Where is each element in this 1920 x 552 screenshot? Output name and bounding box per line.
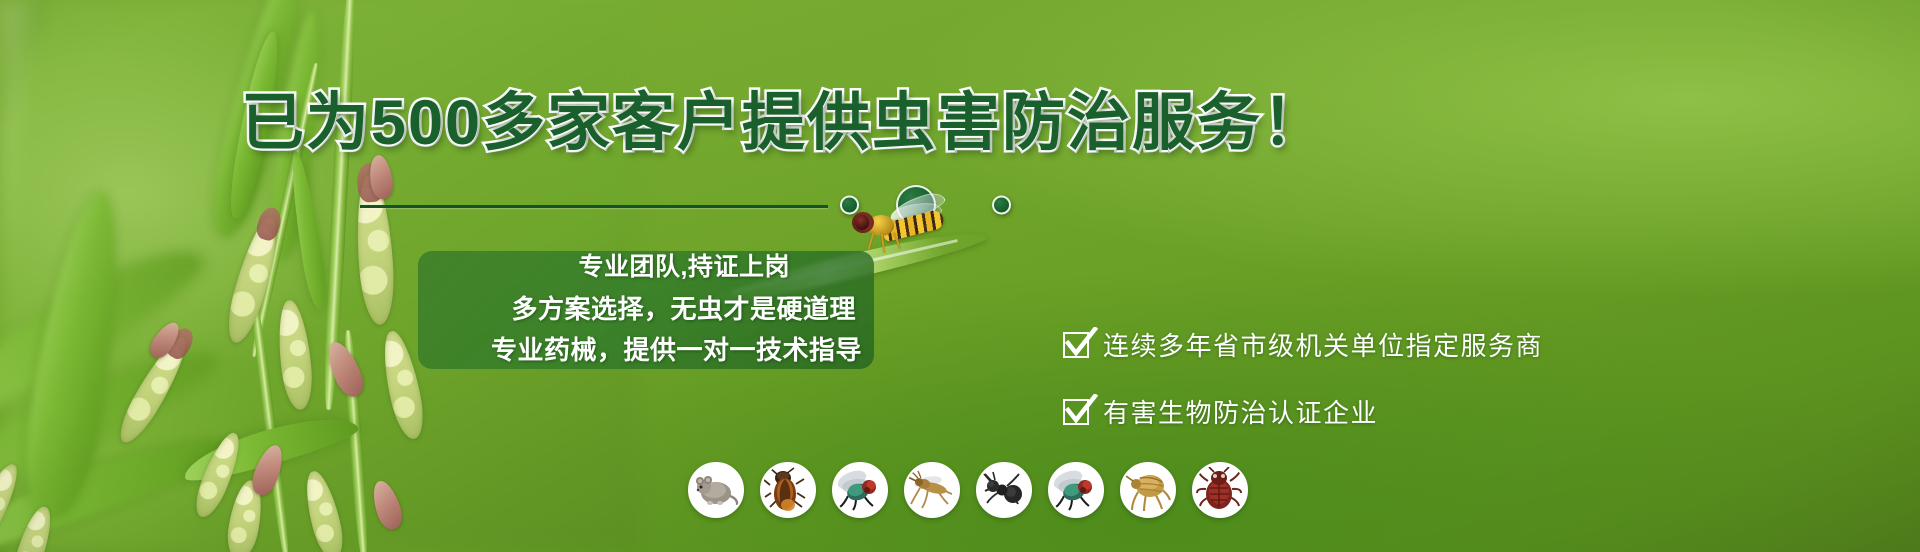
bedbug-icon[interactable]: 臭虫: [1192, 462, 1248, 518]
fly-eye: [855, 215, 869, 230]
fly-leg-front: [868, 232, 875, 250]
cockroach-icon[interactable]: 蟑螂: [760, 462, 816, 518]
credential-row: 连续多年省市级机关单位指定服务商: [1063, 326, 1543, 363]
fly-icon[interactable]: 蝇: [832, 462, 888, 518]
dot-small-right: [992, 196, 1011, 215]
slogan-list: 专业团队,持证上岗 多方案选择，无虫才是硬道理 专业药械，提供一对一技术指导: [418, 251, 874, 369]
blowfly-icon[interactable]: 绿头蝇: [1048, 462, 1104, 518]
page-title-text: 已为500多家客户提供虫害防治服务！: [241, 88, 1327, 158]
slogan-panel: 专业团队,持证上岗 多方案选择，无虫才是硬道理 专业药械，提供一对一技术指导: [418, 251, 874, 369]
slogan-line-1: 专业团队,持证上岗: [579, 255, 864, 280]
slogan-line-2: 多方案选择，无虫才是硬道理: [511, 296, 864, 322]
credential-row: 有害生物防治认证企业: [1063, 393, 1543, 430]
divider-line: [360, 205, 828, 208]
slogan-line-3: 专业药械，提供一对一技术指导: [491, 337, 864, 363]
credential-label: 连续多年省市级机关单位指定服务商: [1103, 326, 1543, 363]
page-title: 已为500多家客户提供虫害防治服务！: [0, 72, 1568, 163]
hoverfly-photo: [846, 196, 956, 254]
mosquito-icon[interactable]: 蚊: [904, 462, 960, 518]
pest-control-banner: 已为500多家客户提供虫害防治服务！ 专业团队,持证上岗 多方案选择，无虫才是硬…: [0, 0, 1920, 552]
flea-icon[interactable]: 跳蚤: [1120, 462, 1176, 518]
credentials-list: 连续多年省市级机关单位指定服务商 有害生物防治认证企业: [1063, 326, 1543, 460]
credential-label: 有害生物防治认证企业: [1103, 393, 1378, 430]
check-icon: [1063, 332, 1089, 358]
pest-icon-row: 鼠 蟑螂: [688, 462, 1248, 518]
check-icon: [1063, 399, 1089, 425]
ant-icon[interactable]: 蚁: [976, 462, 1032, 518]
rodent-icon[interactable]: 鼠: [688, 462, 744, 518]
